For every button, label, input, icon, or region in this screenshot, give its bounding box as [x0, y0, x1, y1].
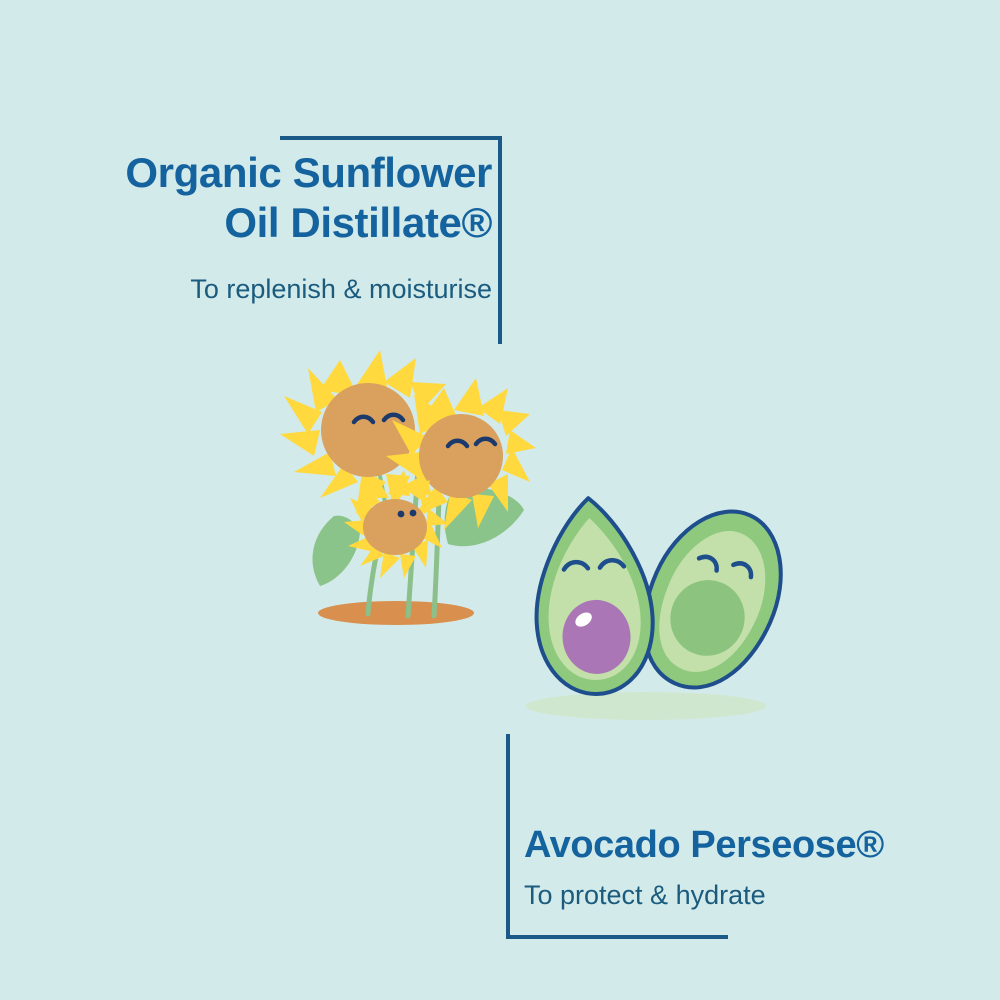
flower-center-small	[363, 499, 427, 555]
sunflower-heading-line-2: Oil Distillate®	[40, 198, 492, 248]
avocado-left	[530, 495, 656, 697]
avocado-shadow-ellipse	[526, 692, 766, 720]
eye-left-small	[398, 511, 405, 518]
infographic-canvas: Organic Sunflower Oil Distillate® To rep…	[0, 0, 1000, 1000]
bracket-bottom-vertical-line	[506, 734, 510, 939]
sunflower-heading-line-1: Organic Sunflower	[40, 148, 492, 198]
avocado-heading: Avocado Perseose®	[524, 822, 980, 868]
sunflower-text-block: Organic Sunflower Oil Distillate® To rep…	[40, 148, 492, 306]
bracket-top-vertical-line	[498, 136, 502, 344]
sunflower-subheading: To replenish & moisturise	[40, 248, 492, 306]
bracket-top-horizontal-line	[280, 136, 502, 140]
avocado-subheading: To protect & hydrate	[524, 868, 980, 912]
eye-right-small	[410, 510, 417, 517]
ground-ellipse	[318, 601, 474, 625]
flower-center-large-right	[419, 414, 503, 498]
sunflower-heading: Organic Sunflower Oil Distillate®	[40, 148, 492, 248]
avocado-illustration	[496, 484, 806, 732]
bracket-bottom-horizontal-line	[506, 935, 728, 939]
avocado-text-block: Avocado Perseose® To protect & hydrate	[524, 822, 980, 912]
